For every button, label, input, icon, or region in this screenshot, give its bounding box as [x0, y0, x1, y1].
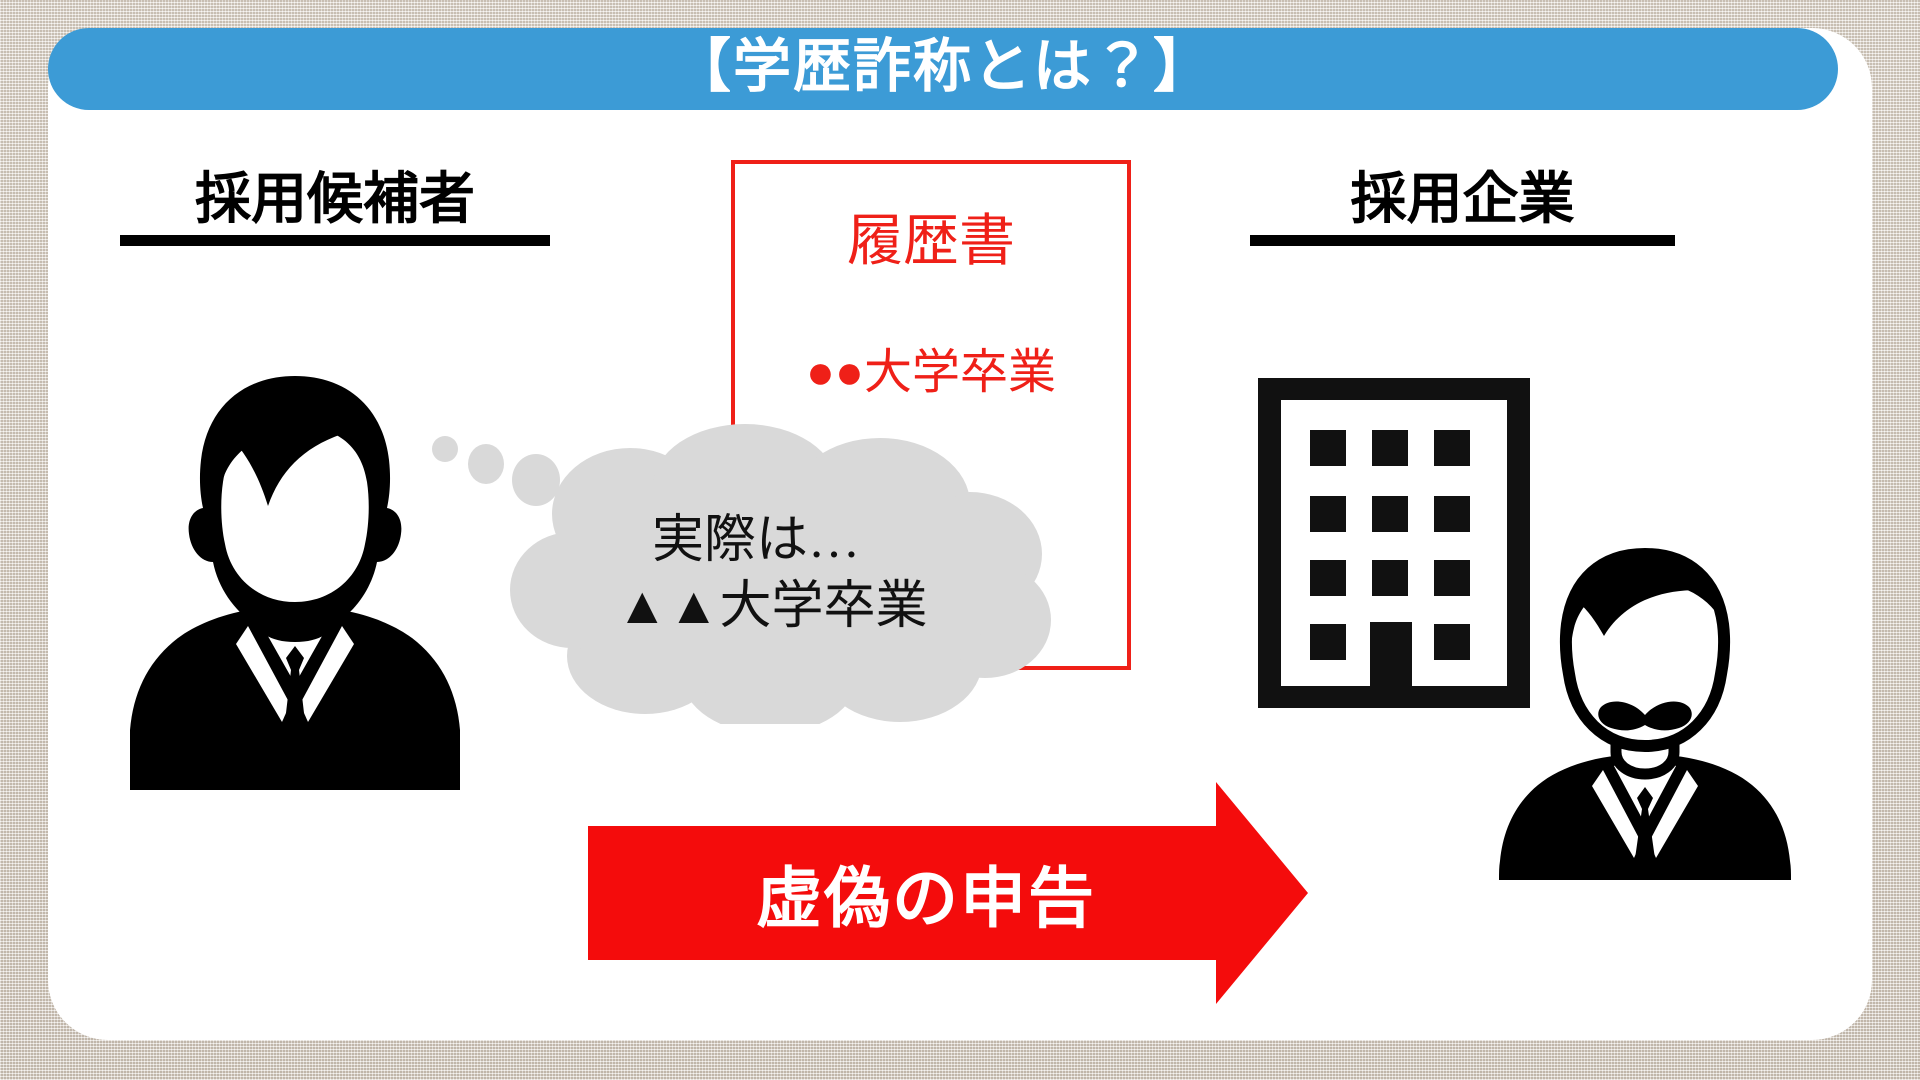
page-title: 【学歴詐称とは？】 — [673, 38, 1213, 96]
thought-dot-small-icon — [432, 436, 458, 462]
person-silhouette-icon — [130, 370, 460, 790]
title-bar: 【学歴詐称とは？】 — [48, 28, 1838, 110]
recruiter-person-icon — [1490, 540, 1800, 880]
slide-canvas: 【学歴詐称とは？】 採用候補者 採用企業 履歴書 ●●大学卒業 — [0, 0, 1920, 1080]
resume-title: 履歴書 — [735, 214, 1127, 270]
company-heading-group: 採用企業 — [1250, 170, 1675, 246]
false-declaration-arrow-icon — [588, 782, 1308, 1004]
candidate-heading-underline — [120, 235, 550, 246]
company-heading-label: 採用企業 — [1250, 170, 1675, 229]
thought-bubble-icon — [480, 424, 1060, 724]
resume-entry-education: ●●大学卒業 — [735, 349, 1127, 397]
company-heading-underline — [1250, 235, 1675, 246]
candidate-heading-group: 採用候補者 — [120, 170, 550, 246]
candidate-heading-label: 採用候補者 — [120, 170, 550, 229]
